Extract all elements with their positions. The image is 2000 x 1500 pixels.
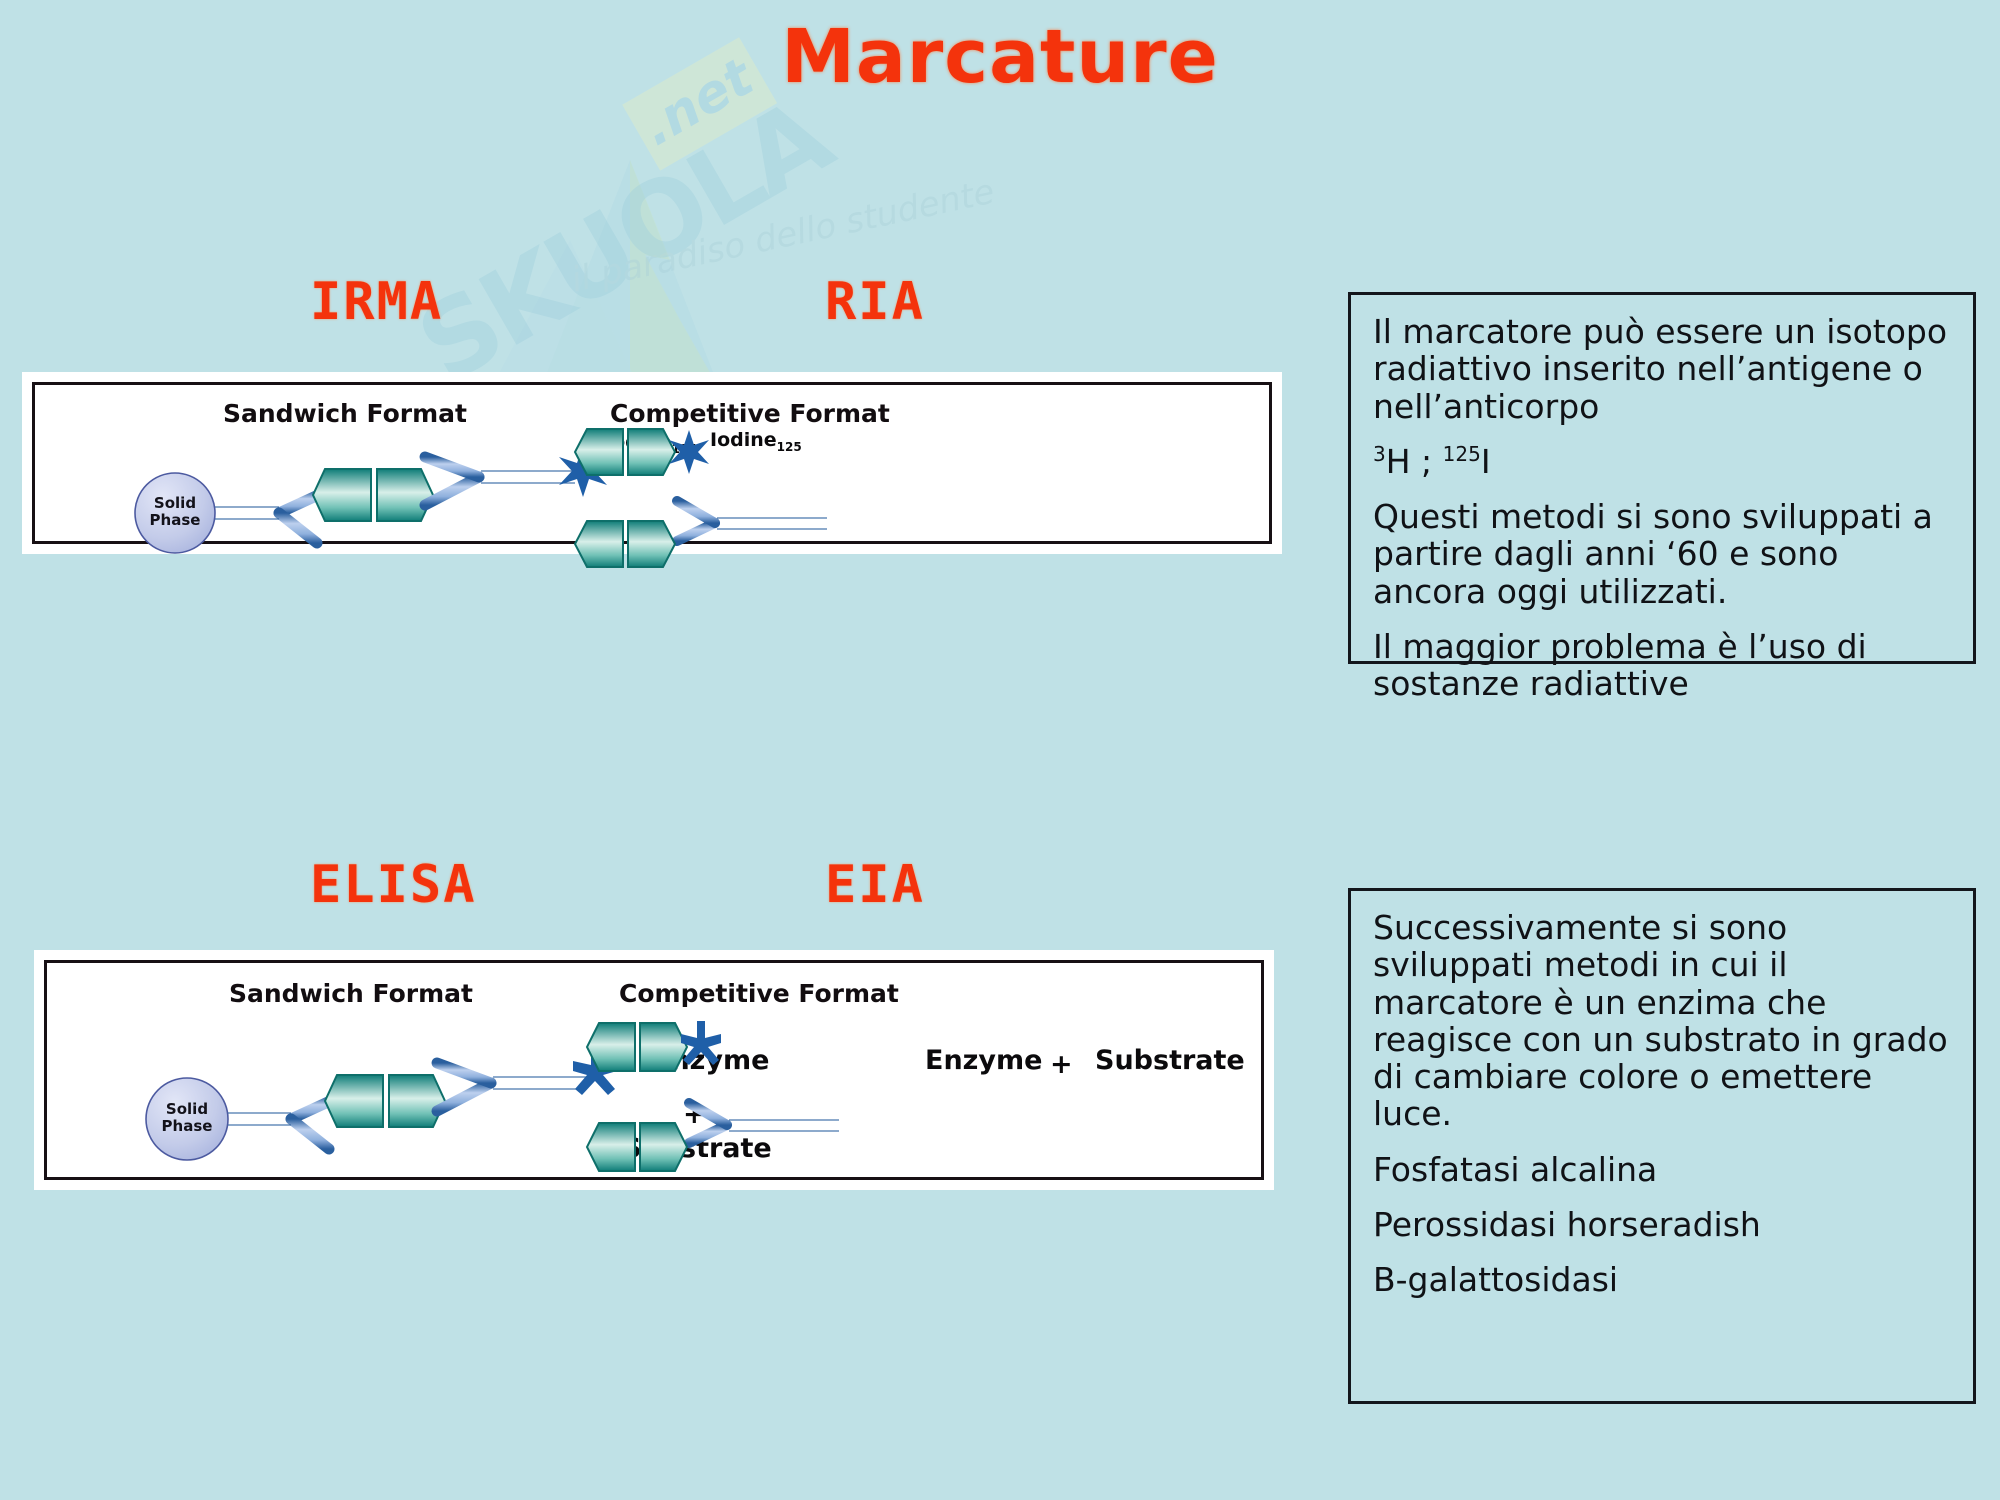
substrate-label-competitive-bottom: Substrate — [1095, 1045, 1245, 1076]
isotope-h3-text: H ; — [1386, 442, 1443, 481]
iodine-label-competitive-top-sub: 125 — [777, 440, 802, 454]
textbox1-paragraph-1: Il marcatore può essere un isotopo radia… — [1373, 313, 1951, 425]
enzyme-label-competitive-bottom: Enzyme — [925, 1045, 1042, 1076]
page-title: Marcature — [0, 14, 2000, 100]
watermark-tagline: il paradiso dello studente — [568, 172, 998, 301]
iodine-label-competitive-top: Iodine125 — [710, 429, 802, 454]
textbox2-enzyme-3: B-galattosidasi — [1373, 1261, 1951, 1298]
watermark-mountain-icon — [430, 90, 790, 390]
diagram-panel-enzymeimmunoassay: Sandwich Format Competitive Format — [34, 950, 1274, 1190]
isotope-h3-superscript: 3 — [1373, 442, 1386, 466]
textbox2-enzyme-1: Fosfatasi alcalina — [1373, 1151, 1951, 1188]
bottom-sandwich-format-title: Sandwich Format — [229, 979, 473, 1008]
isotope-i125-superscript: 125 — [1443, 442, 1481, 466]
svg-text:Solid: Solid — [166, 1100, 208, 1118]
isotope-i125-text: I — [1481, 442, 1491, 481]
assay-label-elisa: ELISA — [310, 855, 477, 915]
assay-label-eia: EIA — [825, 855, 925, 915]
textbox2-paragraph-1: Successivamente si sono sviluppati metod… — [1373, 909, 1951, 1133]
textbox1-paragraph-4: Il maggior problema è l’uso di sostanze … — [1373, 628, 1951, 703]
textbox1-paragraph-3: Questi metodi si sono sviluppati a parti… — [1373, 498, 1951, 610]
bottom-competitive-format-title: Competitive Format — [619, 979, 899, 1008]
iodine-label-competitive-top-text: Iodine — [710, 429, 777, 451]
diagram-panel-top-inner: Sandwich Format Competitive Format — [32, 382, 1272, 544]
svg-text:Phase: Phase — [150, 511, 201, 529]
info-textbox-enzyme-markers: Successivamente si sono sviluppati metod… — [1348, 888, 1976, 1404]
svg-text:Phase: Phase — [162, 1117, 213, 1135]
textbox2-enzyme-2: Perossidasi horseradish — [1373, 1206, 1951, 1243]
diagram-panel-radioimmunoassay: Sandwich Format Competitive Format — [22, 372, 1282, 554]
svg-text:Solid: Solid — [154, 494, 196, 512]
diagram-panel-bottom-inner: Sandwich Format Competitive Format — [44, 960, 1264, 1180]
info-textbox-radioactive-markers: Il marcatore può essere un isotopo radia… — [1348, 292, 1976, 664]
assay-label-irma: IRMA — [310, 272, 443, 332]
plus-sign-competitive-bottom: + — [1050, 1049, 1073, 1080]
textbox1-isotopes-line: 3H ; 125I — [1373, 443, 1951, 480]
assay-label-ria: RIA — [825, 272, 925, 332]
watermark-logo-text: SKUOLA — [398, 76, 848, 406]
competitive-complex-diagram-bottom — [577, 1015, 877, 1175]
